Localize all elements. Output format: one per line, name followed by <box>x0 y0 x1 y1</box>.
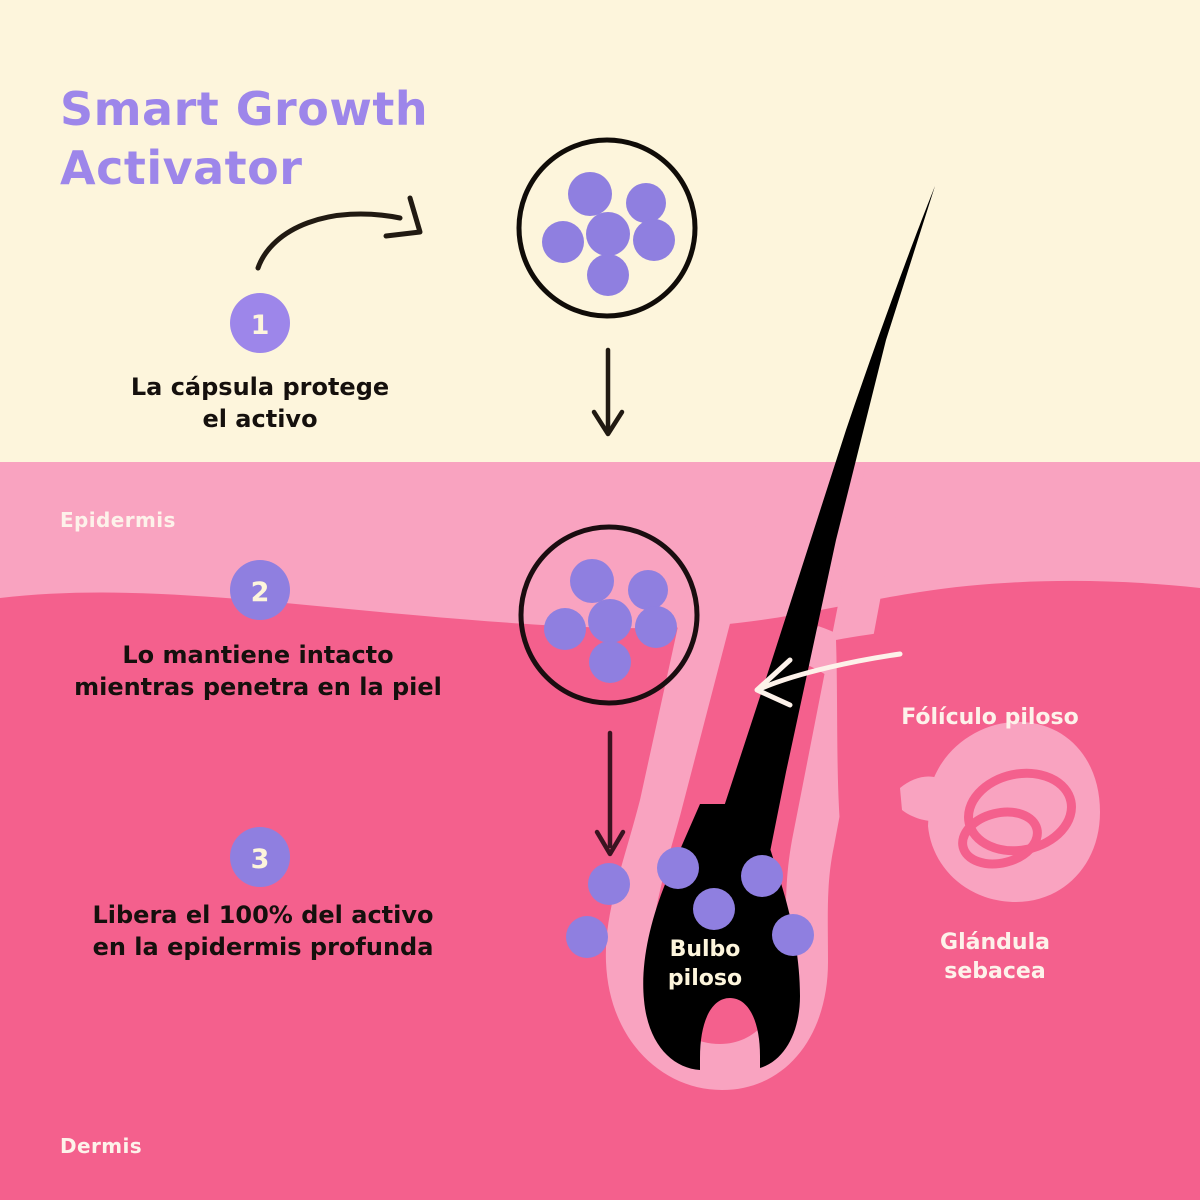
epidermis-layer-label: Epidermis <box>60 508 176 532</box>
page-title-line1: Smart Growth <box>60 82 428 136</box>
page-title: Smart GrowthActivator <box>60 80 428 198</box>
dermis-layer-label: Dermis <box>60 1134 142 1158</box>
step-badge-3-number: 3 <box>251 844 270 875</box>
step-badge-2: 2 <box>230 560 290 620</box>
step-badge-1-number: 1 <box>251 310 270 341</box>
step-3-description: Libera el 100% del activo en la epidermi… <box>48 900 478 963</box>
step-badge-2-number: 2 <box>251 577 270 608</box>
step-badge-1: 1 <box>230 293 290 353</box>
step-1-description: La cápsula protege el activo <box>60 372 460 435</box>
step-badge-3: 3 <box>230 827 290 887</box>
sebaceous-gland-label: Glándula sebacea <box>900 928 1090 987</box>
infographic-canvas: 1 2 3 Smart GrowthActivator La cápsula p… <box>0 0 1200 1200</box>
page-title-line2: Activator <box>60 141 302 195</box>
follicle-label: Fólículo piloso <box>860 703 1120 732</box>
step-2-description: Lo mantiene intacto mientras penetra en … <box>48 640 468 703</box>
hair-bulb-label: Bulbo piloso <box>640 935 770 994</box>
